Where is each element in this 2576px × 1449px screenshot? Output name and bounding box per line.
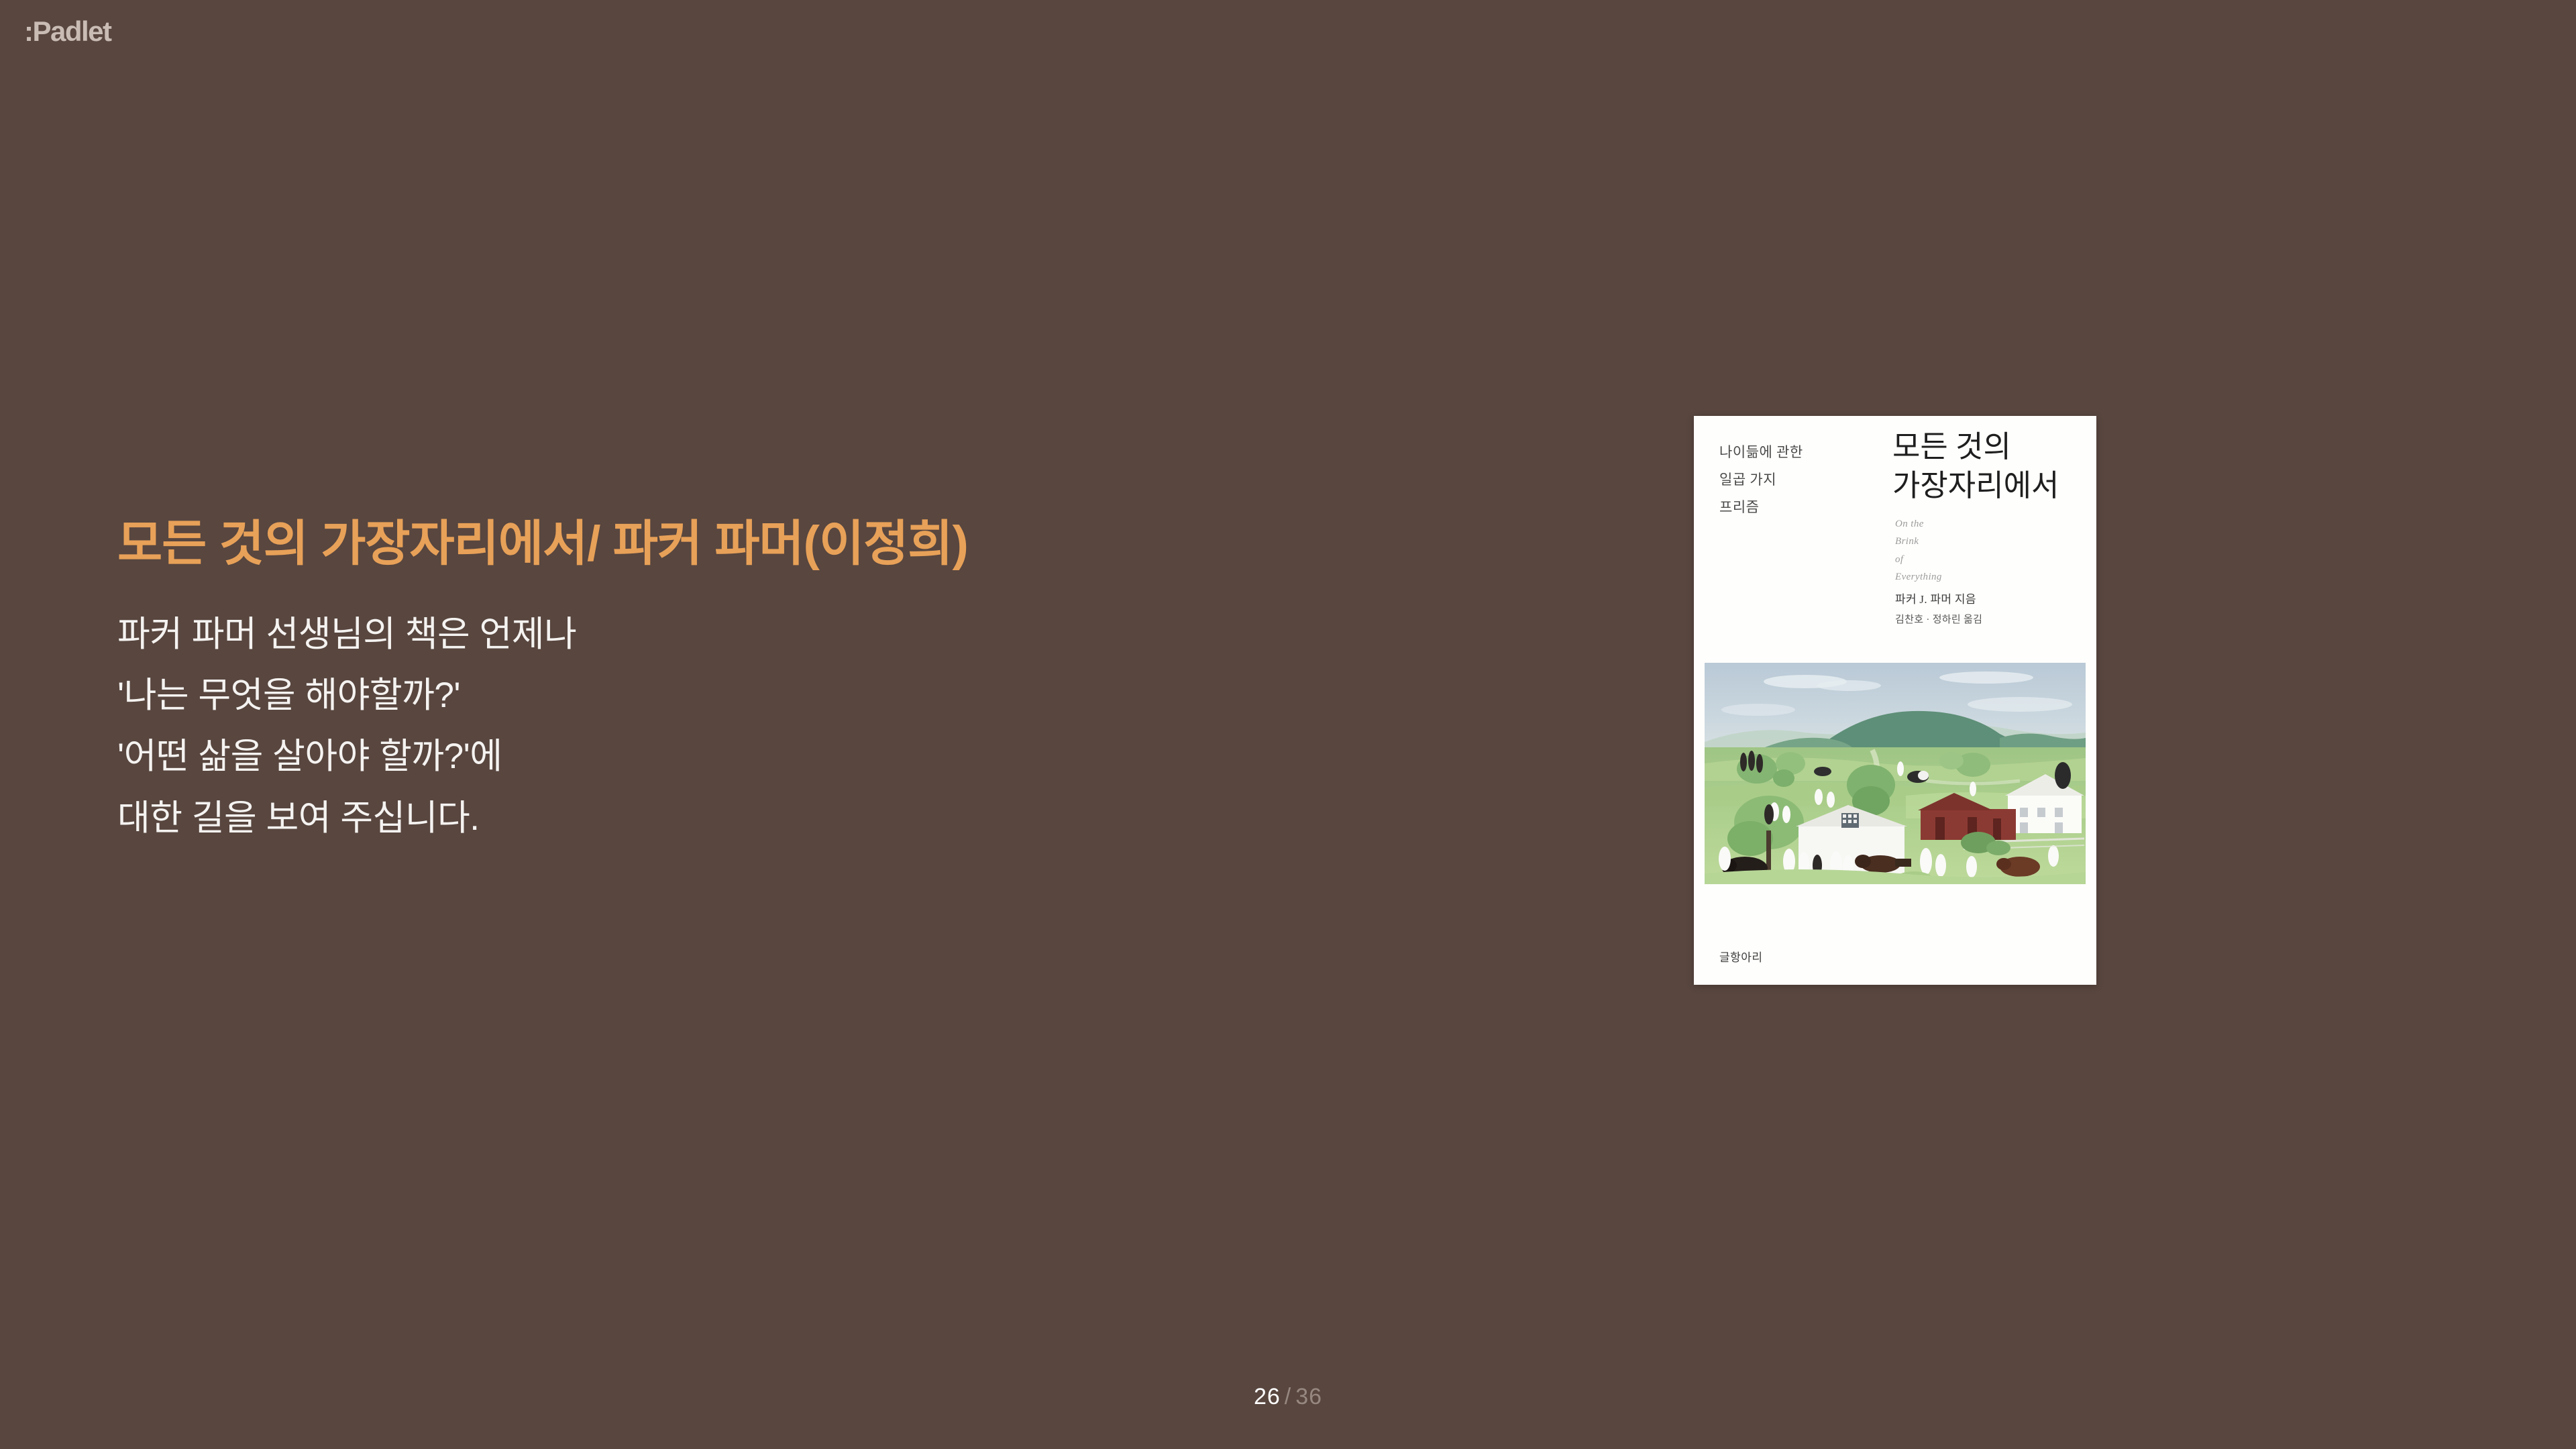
english-title-line-1: On the (1895, 515, 1942, 533)
book-subhead-line-2: 일곱 가지 (1719, 466, 1803, 494)
book-cover-title: 모든 것의 가장자리에서 (1892, 428, 2059, 505)
slide-content-column: 모든 것의 가장자리에서/ 파커 파머(이정희) 파커 파머 선생님의 책은 언… (117, 515, 1432, 849)
page-counter-current[interactable]: 26 (1254, 1384, 1281, 1409)
page-title: 모든 것의 가장자리에서/ 파커 파머(이정희) (117, 515, 1432, 573)
english-title-line-4: Everything (1895, 568, 1942, 586)
book-subhead-line-3: 프리즘 (1719, 494, 1803, 521)
page-counter-separator: / (1285, 1384, 1291, 1409)
body-line-3: '어떤 삶을 살아야 할까?'에 (117, 726, 1432, 787)
book-title-line-1: 모든 것의 (1892, 428, 2059, 467)
book-cover-subhead: 나이듦에 관한 일곱 가지 프리즘 (1719, 439, 1803, 521)
book-title-line-2: 가장자리에서 (1892, 467, 2059, 506)
slide-body-text: 파커 파머 선생님의 책은 언제나 '나는 무엇을 해야할까?' '어떤 삶을 … (117, 604, 1432, 849)
book-subhead-line-1: 나이듦에 관한 (1719, 439, 1803, 466)
book-publisher: 글항아리 (1719, 948, 1763, 965)
english-title-line-3: of (1895, 551, 1942, 568)
page-counter-total: 36 (1295, 1384, 1322, 1409)
book-cover-artwork (1705, 663, 2086, 884)
book-translator: 김찬호 · 정하린 옮김 (1895, 610, 1982, 630)
book-cover-text-area: 나이듦에 관한 일곱 가지 프리즘 모든 것의 가장자리에서 On the Br… (1694, 416, 2096, 663)
book-cover-english-title: On the Brink of Everything (1895, 515, 1942, 586)
body-line-1: 파커 파머 선생님의 책은 언제나 (117, 604, 1432, 665)
body-line-4: 대한 길을 보여 주십니다. (117, 788, 1432, 849)
book-cover-image[interactable]: 나이듦에 관한 일곱 가지 프리즘 모든 것의 가장자리에서 On the Br… (1694, 416, 2096, 985)
page-counter: 26/36 (0, 1384, 2576, 1410)
slide-canvas: 모든 것의 가장자리에서/ 파커 파머(이정희) 파커 파머 선생님의 책은 언… (0, 0, 2576, 1449)
book-cover-author-block: 파커 J. 파머 지음 김찬호 · 정하린 옮김 (1895, 589, 1982, 630)
body-line-2: '나는 무엇을 해야할까?' (117, 665, 1432, 726)
book-author: 파커 J. 파머 지음 (1895, 589, 1982, 610)
english-title-line-2: Brink (1895, 533, 1942, 550)
